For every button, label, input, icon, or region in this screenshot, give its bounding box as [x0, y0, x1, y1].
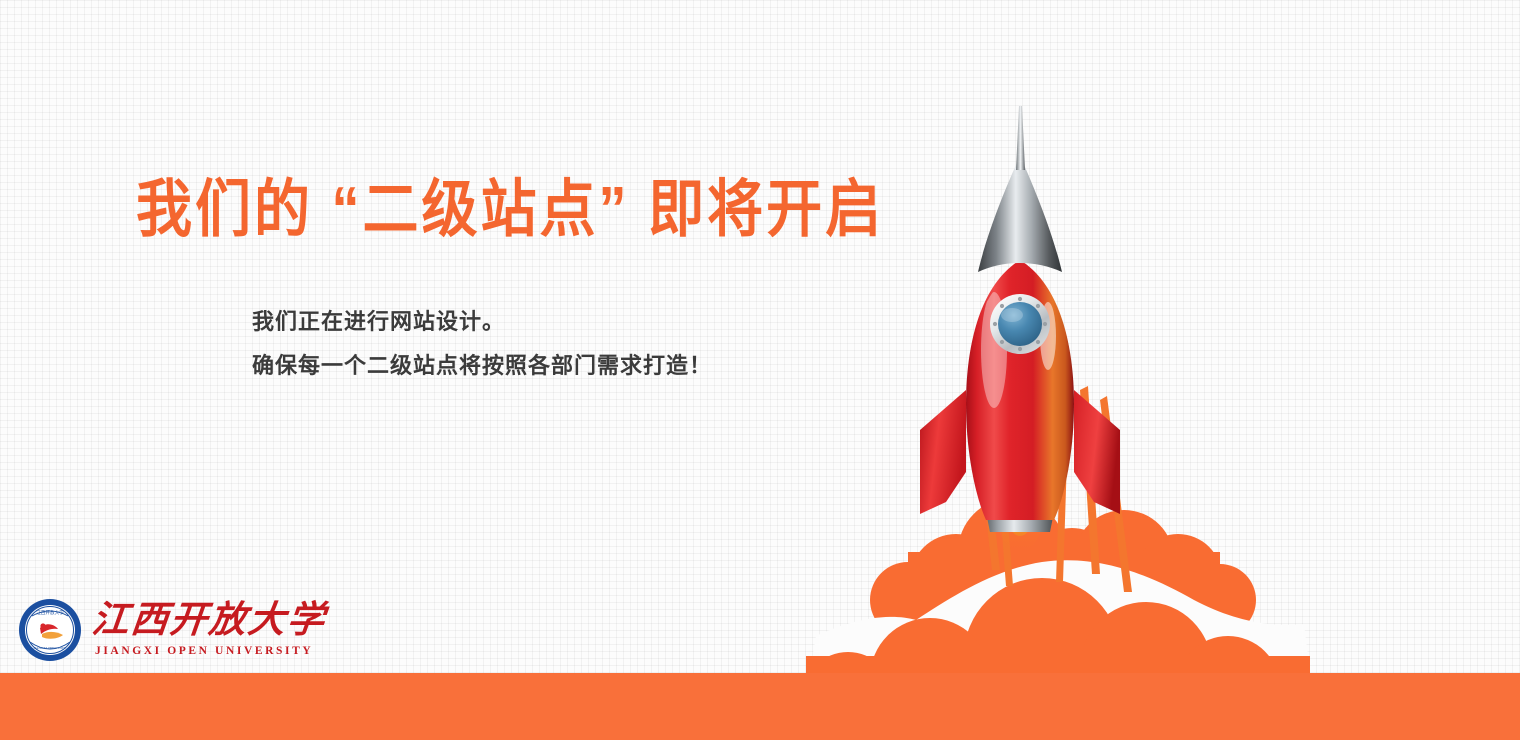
rocket-nose-cone: [978, 156, 1062, 272]
svg-text:江西开放大学: 江西开放大学: [36, 609, 64, 616]
subtitle-line-2: 确保每一个二级站点将按照各部门需求打造！: [252, 344, 712, 388]
svg-text:JIANGXI OPEN UNIV.: JIANGXI OPEN UNIV.: [34, 646, 67, 650]
page-title: 我们的 “二级站点” 即将开启: [136, 178, 884, 241]
university-crest-icon: 江西开放大学 JIANGXI OPEN UNIV.: [18, 598, 82, 662]
logo-text: 江西开放大学 JIANGXI OPEN UNIVERSITY: [92, 602, 326, 658]
university-logo[interactable]: 江西开放大学 JIANGXI OPEN UNIV. 江西开放大学 JIANGXI…: [18, 598, 326, 662]
subtitle-line-1: 我们正在进行网站设计。: [252, 300, 712, 344]
banner-page: 我们的 “二级站点” 即将开启 我们正在进行网站设计。 确保每一个二级站点将按照…: [0, 0, 1520, 740]
rocket-fin-right: [1074, 390, 1120, 514]
porthole-window-icon: [990, 294, 1050, 354]
rocket-fin-left: [920, 390, 966, 514]
subtitle-block: 我们正在进行网站设计。 确保每一个二级站点将按照各部门需求打造！: [252, 300, 712, 388]
logo-name-en: JIANGXI OPEN UNIVERSITY: [95, 646, 326, 658]
bottom-accent-bar: [0, 673, 1520, 740]
rocket-spike: [1016, 106, 1025, 170]
logo-name-cn: 江西开放大学: [90, 602, 328, 639]
rocket-icon: [920, 106, 1120, 532]
